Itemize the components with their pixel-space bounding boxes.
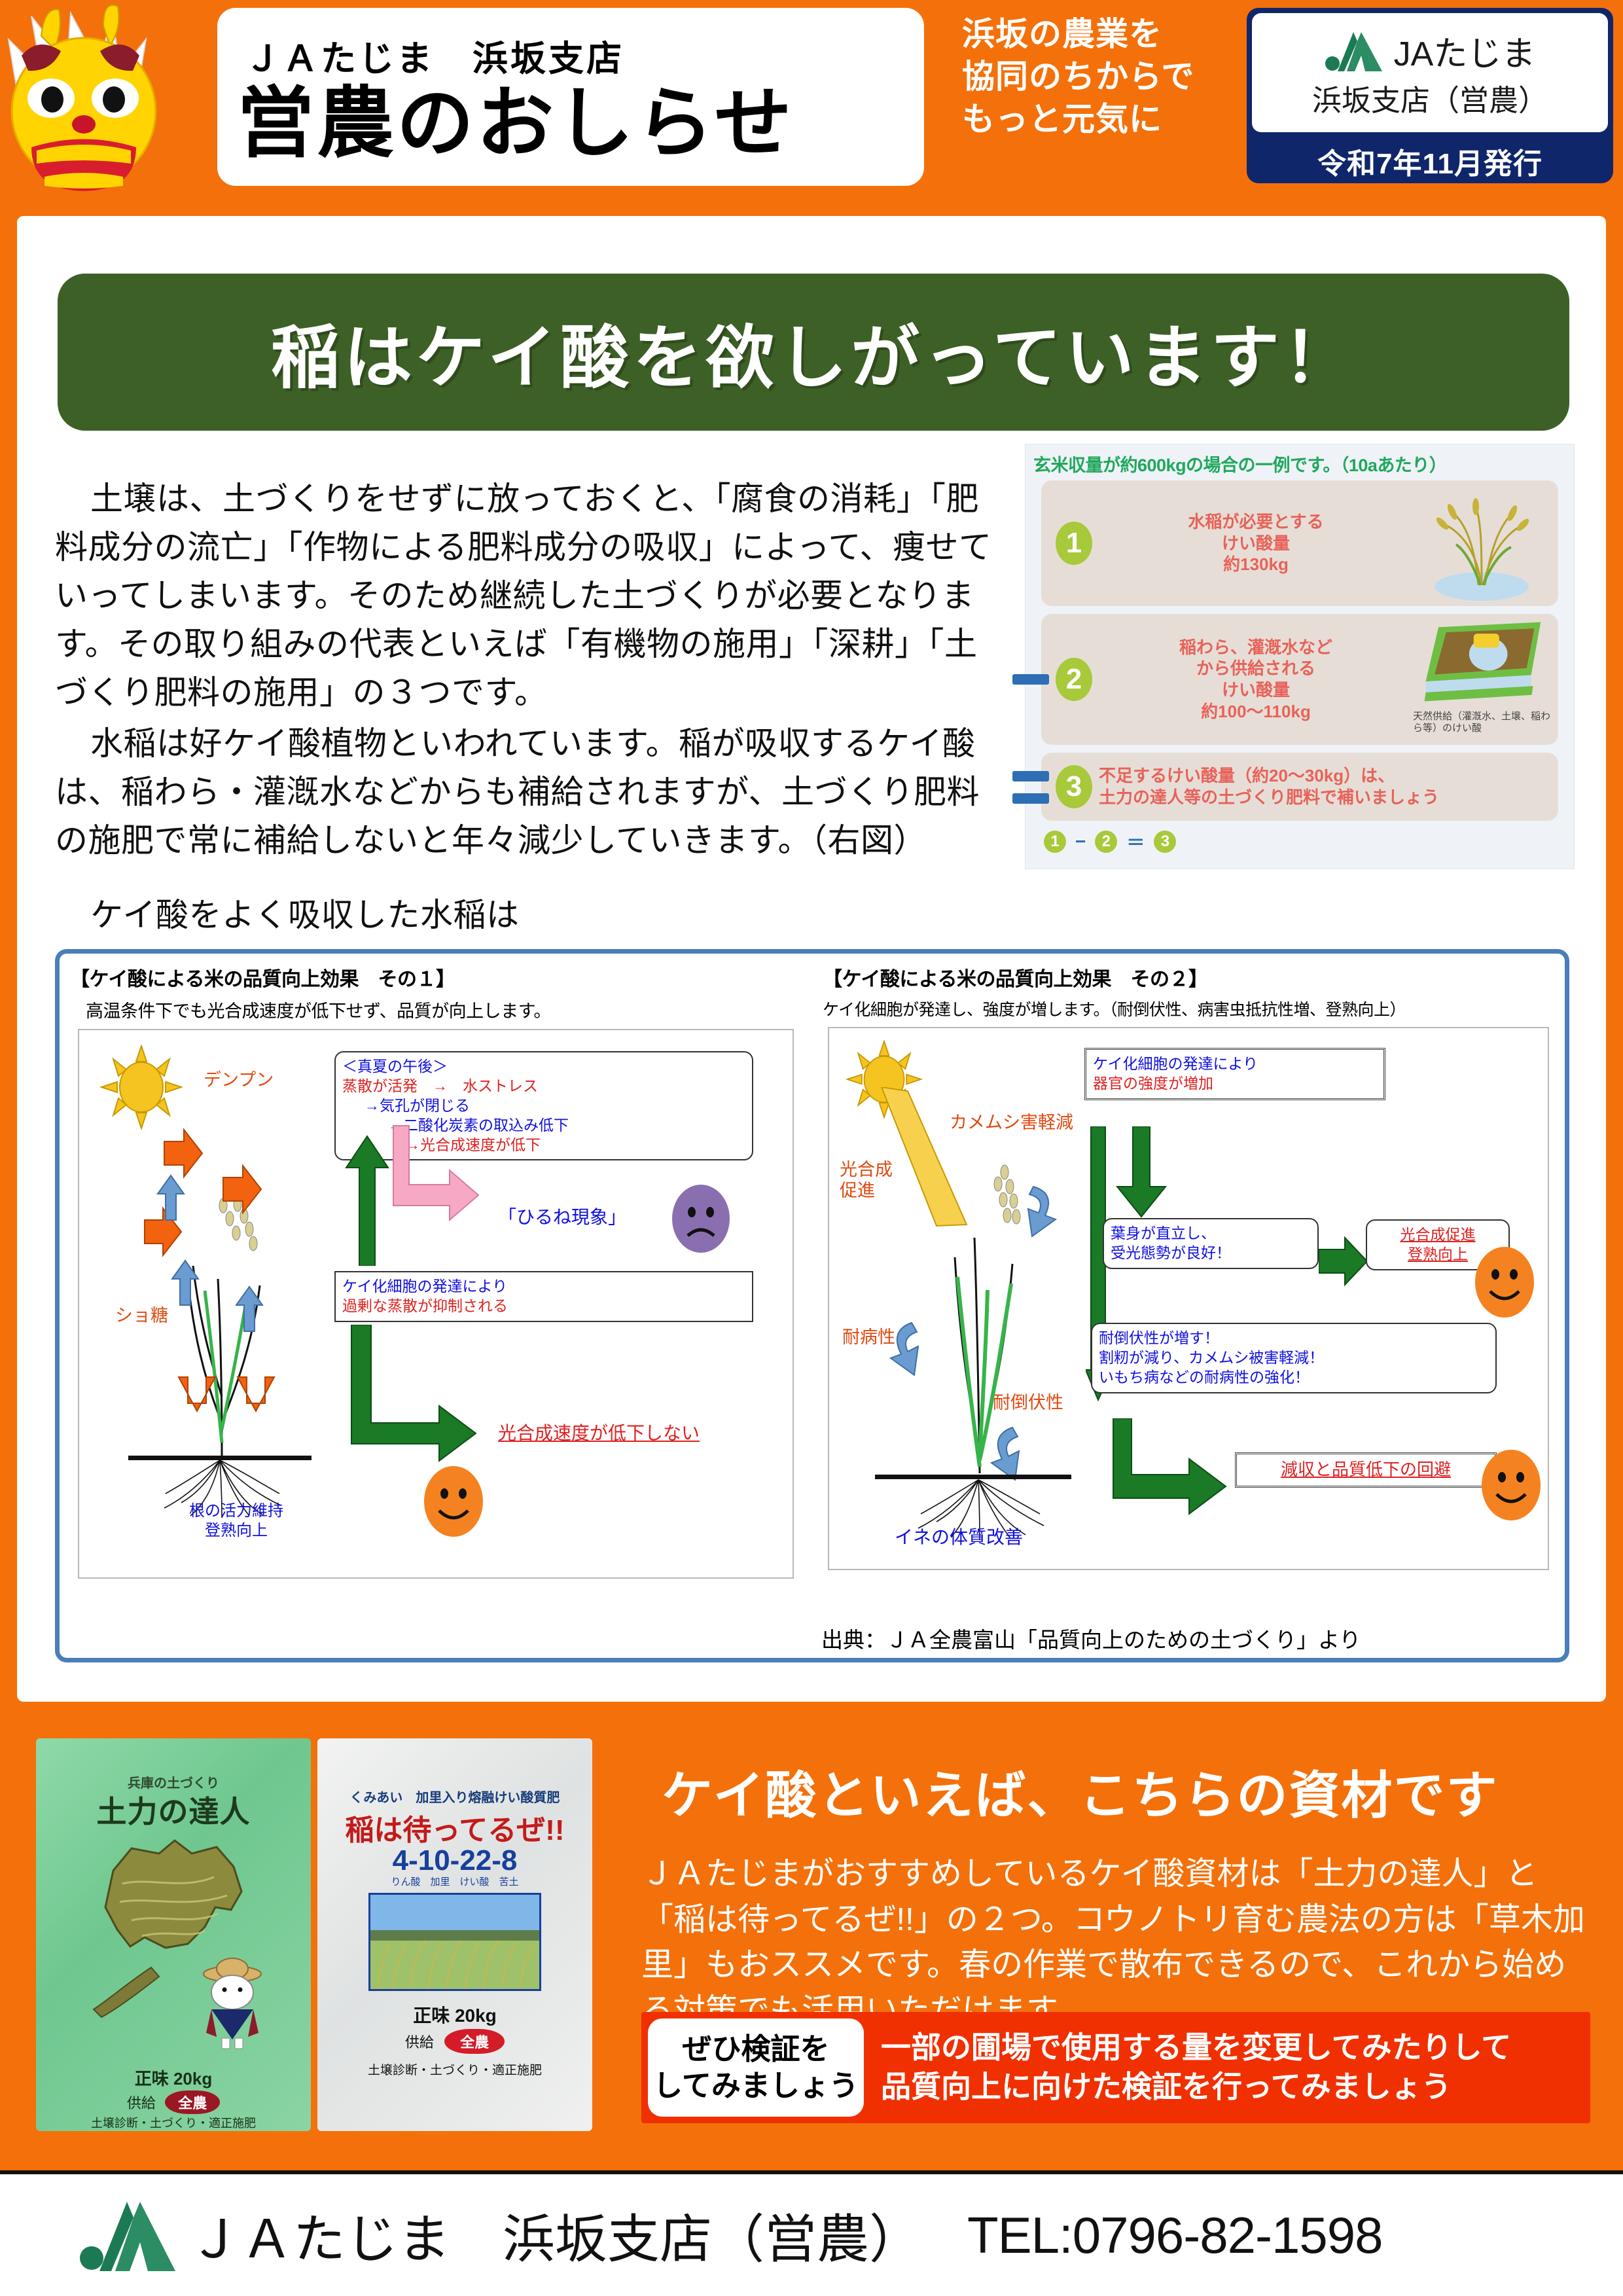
article-paragraph-1: 土壌は、土づくりをせずに放っておくと、「腐食の消耗」「肥料成分の流亡」「作物によ… [55, 475, 997, 717]
green-right-arrow-icon [1319, 1236, 1368, 1286]
green-down-arrow-icon [1109, 1126, 1188, 1218]
title-card: ＪＡたじま 浜坂支店 営農のおしらせ [217, 8, 924, 186]
card1-line3: 約130kg [1099, 554, 1413, 575]
newsletter-page: ＪＡたじま 浜坂支店 営農のおしらせ 浜坂の農業を 協同のちからで もっと元気に [0, 0, 1623, 2296]
slogan-line-3: もっと元気に [962, 98, 1224, 141]
infographic-equation: 1 − 2 ＝ 3 [1026, 829, 1574, 855]
equals-sign-icon [1041, 753, 1058, 821]
zen-noh-brand-badge: 全農 [165, 2090, 220, 2114]
list-intro: ケイ酸をよく吸収した水稲は [55, 891, 997, 939]
card1-line2: けい酸量 [1099, 533, 1413, 554]
infographic-heading: 玄米収量が約600kgの場合の一例です。（10aあたり） [1026, 444, 1574, 480]
callout-line-2: 品質向上に向けた検証を行ってみましょう [881, 2068, 1511, 2107]
source-citation: 出典：ＪＡ全農富山「品質向上のための土づくり」より [821, 1623, 1361, 1654]
infographic-card-2: 2 稲わら、灌漑水など から供給される けい酸量 約100〜110kg [1041, 614, 1558, 745]
card2-line3: けい酸量 [1099, 679, 1413, 701]
equation-term-3: 3 [1154, 831, 1176, 853]
equation-minus: − [1075, 831, 1086, 852]
minus-sign-icon [1041, 614, 1058, 745]
shishimai-dragon-mascot-icon [5, 0, 208, 196]
footer-org: ＪＡたじま 浜坂支店（営農） [188, 2197, 921, 2273]
callout-chip-line1: ぜひ検証を [682, 2031, 829, 2068]
callout-text: 一部の圃場で使用する量を変更してみたりして 品質向上に向けた検証を行ってみましょ… [864, 2028, 1511, 2107]
note-line-3: →気孔が閉じる [342, 1096, 745, 1116]
callout-chip: ぜひ検証を してみましょう [648, 2018, 864, 2117]
note-mid-line1: ケイ化細胞の発達により [342, 1277, 745, 1297]
slogan-line-2: 協同のちからで [962, 56, 1224, 98]
sad-face-icon [668, 1182, 734, 1255]
r-result-l1: 光合成促進 [1374, 1225, 1502, 1245]
zen-noh-brand-badge: 全農 [444, 2029, 505, 2054]
paddy-field-cross-section-icon: 天然供給（灌漑水、土壌、稲わら等）のけい酸 [1413, 620, 1550, 738]
bag-left-weight: 正味 20kg [36, 2066, 311, 2090]
page-header: ＪＡたじま 浜坂支店 営農のおしらせ 浜坂の農業を 協同のちからで もっと元気に [0, 0, 1623, 196]
diagram-2-title: 【ケイ酸による米の品質向上効果 その２】 [823, 963, 1554, 992]
smiley-face-icon [1471, 1244, 1539, 1320]
label-rice-constitution: イネの体質改善 [895, 1526, 1023, 1549]
product-images: 兵庫の土づくり 土力の達人 [36, 1738, 592, 2131]
silicic-acid-infographic: 玄米収量が約600kgの場合の一例です。（10aあたり） 1 水稲が必要とする … [1025, 444, 1575, 869]
issue-date: 令和7年11月発行 [1252, 132, 1608, 182]
diagram-1-canvas: デンプン ショ糖 [78, 1029, 794, 1579]
lodging-resistance-note: 耐倒伏性が増す！ 割籾が減り、カメムシ被害軽減！ いもち病などの耐病性の強化！ [1091, 1323, 1497, 1393]
equation-term-1: 1 [1044, 831, 1066, 853]
ja-logo-branch: 浜坂支店（営農） [1312, 77, 1548, 119]
infographic-card-number: 3 [1056, 765, 1092, 808]
yield-quality-note: 減収と品質低下の回避 [1235, 1452, 1497, 1488]
smiley-face-icon [419, 1463, 488, 1539]
promo-section: 兵庫の土づくり 土力の達人 [0, 1711, 1623, 2162]
r-bottom: 減収と品質低下の回避 [1243, 1459, 1488, 1481]
headline-text: 稲はケイ酸を欲しがっています！ [271, 302, 1356, 402]
verification-callout: ぜひ検証を してみましょう 一部の圃場で使用する量を変更してみたりして 品質向上… [641, 2012, 1590, 2123]
label-starch: デンプン [204, 1069, 274, 1092]
green-curved-arrow-icon [1104, 1418, 1235, 1516]
card1-line1: 水稲が必要とする [1099, 511, 1413, 533]
diagram-2-canvas: 光合成 促進 カメムシ害軽減 耐病性 耐倒伏性 [828, 1027, 1549, 1570]
product-bag-ine-wa-matteruze: くみあい 加里入り熔融けい酸質肥 稲は待ってるぜ!! 4-10-22-8 りん酸… [317, 1738, 592, 2131]
card2-line2: から供給される [1099, 658, 1413, 679]
footer-orange-bar [0, 2165, 1623, 2170]
infographic-card-1: 1 水稲が必要とする けい酸量 約130kg [1041, 480, 1558, 606]
r-leaf-l2: 受光態勢が良好！ [1111, 1244, 1311, 1263]
bag-right-supply: 供給 全農 [317, 2029, 592, 2054]
infographic-card-text: 稲わら、灌漑水など から供給される けい酸量 約100〜110kg [1099, 637, 1413, 723]
headline-banner: 稲はケイ酸を欲しがっています！ [58, 274, 1569, 431]
bag-left-footer: 土壌診断・土づくり・適正施肥 [36, 2114, 311, 2131]
branch-label: ＪＡたじま 浜坂支店 [245, 29, 924, 81]
smiley-face-icon [1477, 1447, 1545, 1523]
root-label-line1: 根の活力維持 [164, 1501, 308, 1521]
label-root-vitality: 根の活力維持 登熟向上 [164, 1501, 308, 1541]
ja-logo-icon [1325, 31, 1385, 71]
bag-right-supply-label: 供給 [405, 2034, 434, 2051]
ja-logo-text: JAたじま [1394, 26, 1536, 75]
footer-tel: TEL:0796-82-1598 [967, 2206, 1382, 2265]
card2-line1: 稲わら、灌漑水など [1099, 637, 1413, 658]
pink-curved-arrow-icon [387, 1122, 485, 1240]
r-mid-l2: 割籾が減り、カメムシ被害軽減！ [1099, 1348, 1489, 1368]
infographic-card-3: 3 不足するけい酸量（約20〜30kg）は、 土力の達人等の土づくり肥料で補いま… [1041, 753, 1558, 821]
main-content-panel: 稲はケイ酸を欲しがっています！ 土壌は、土づくりをせずに放っておくと、「腐食の消… [17, 216, 1606, 1702]
quality-effect-diagrams: 【ケイ酸による米の品質向上効果 その１】 高温条件下でも光合成速度が低下せず、品… [55, 949, 1569, 1662]
infographic-card-number: 2 [1056, 658, 1092, 701]
r-note-top-l2: 器官の強度が増加 [1093, 1074, 1377, 1094]
note-line-1: ＜真夏の午後＞ [342, 1057, 745, 1077]
bag-right-top-small: くみあい 加里入り熔融けい酸質肥 [317, 1787, 592, 1806]
card3-line2: 土力の達人等の土づくり肥料で補いましょう [1099, 787, 1550, 808]
bag-right-npk: 4-10-22-8 [317, 1844, 592, 1877]
farmer-mascot-icon [193, 1954, 272, 2053]
diagram-1-subtitle: 高温条件下でも光合成速度が低下せず、品質が向上します。 [86, 997, 802, 1022]
product-bag-dojikaru-no-tatsujin: 兵庫の土づくり 土力の達人 [36, 1738, 311, 2131]
ja-logo-box: JAたじま 浜坂支店（営農） 令和7年11月発行 [1247, 8, 1613, 183]
promo-heading-bar: ケイ酸といえば、こちらの資材です [638, 1749, 1590, 1834]
promo-heading: ケイ酸といえば、こちらの資材です [662, 1755, 1498, 1828]
ja-logo-icon [79, 2199, 177, 2271]
infographic-card-number: 1 [1056, 522, 1092, 565]
infographic-card-text: 不足するけい酸量（約20〜30kg）は、 土力の達人等の土づくり肥料で補いましょ… [1099, 765, 1550, 808]
r-note-top-l1: ケイ化細胞の発達により [1093, 1054, 1377, 1074]
equation-equals: ＝ [1126, 829, 1145, 855]
note-mid-line2: 過剰な蒸散が抑制される [342, 1297, 745, 1316]
upright-rice-plant-icon [868, 1126, 1084, 1545]
hyogo-prefecture-map-icon [77, 1831, 273, 1962]
r-leaf-l1: 葉身が直立し、 [1111, 1224, 1311, 1244]
rice-plant-with-roots-icon [125, 1115, 315, 1521]
leaf-upright-note: 葉身が直立し、 受光態勢が良好！ [1103, 1218, 1319, 1269]
bag-right-footer: 土壌診断・土づくり・適正施肥 [317, 2060, 592, 2078]
diagram-2-subtitle: ケイ化細胞が発達し、強度が増します。（耐倒伏性、病害虫抵抗性増、登熟向上） [823, 997, 1554, 1020]
r-mid-l1: 耐倒伏性が増す！ [1099, 1329, 1489, 1348]
equation-term-2: 2 [1095, 831, 1117, 853]
card2-line4: 約100〜110kg [1099, 701, 1413, 723]
article-paragraph-2: 水稲は好ケイ酸植物といわれています。稲が吸収するケイ酸は、稲わら・灌漑水などから… [55, 719, 997, 865]
rice-plant-in-water-icon [1413, 487, 1550, 600]
bag-left-name: 土力の達人 [36, 1788, 311, 1831]
bag-right-npk-labels: りん酸 加里 けい酸 苦土 [317, 1874, 592, 1888]
cell-strength-note: ケイ化細胞の発達により 器官の強度が増加 [1084, 1048, 1385, 1100]
diagram-panel-2: 【ケイ酸による米の品質向上効果 その２】 ケイ化細胞が発達し、強度が増します。（… [812, 954, 1565, 1658]
callout-line-1: 一部の圃場で使用する量を変更してみたりして [881, 2028, 1511, 2068]
r-mid-l3: いもち病などの耐病性の強化！ [1099, 1368, 1489, 1388]
diagram-panel-1: 【ケイ酸による米の品質向上効果 その１】 高温条件下でも光合成速度が低下せず、品… [60, 954, 812, 1658]
slogan: 浜坂の農業を 協同のちからで もっと元気に [962, 13, 1224, 141]
promo-body: ＪＡたじまがおすすめしているケイ酸資材は「土力の達人」と「稲は待ってるぜ!!」の… [641, 1852, 1590, 2034]
page-title: 営農のおしらせ [237, 84, 924, 165]
bag-right-name: 稲は待ってるぜ!! [317, 1806, 592, 1848]
bag-left-supply: 供給 全農 [36, 2090, 311, 2114]
outcome-photosynthesis: 光合成速度が低下しない [498, 1422, 700, 1444]
note-line-2: 蒸散が活発 → 水ストレス [342, 1077, 745, 1096]
label-nap-phenomenon: 「ひるね現象」 [498, 1206, 626, 1229]
burdock-root-icon [88, 1961, 167, 2020]
bag-right-weight: 正味 20kg [317, 2001, 592, 2028]
green-curved-arrow-icon [341, 1325, 498, 1469]
callout-chip-line2: してみましょう [653, 2068, 859, 2104]
rice-field-photo [368, 1893, 541, 1991]
bag-left-supply-label: 供給 [127, 2095, 156, 2111]
infographic-card-caption: 天然供給（灌漑水、土壌、稲わら等）のけい酸 [1413, 711, 1550, 734]
diagram-1-title: 【ケイ酸による米の品質向上効果 その１】 [70, 963, 802, 992]
slogan-line-1: 浜坂の農業を [962, 13, 1224, 56]
silicified-cell-note: ケイ化細胞の発達により 過剰な蒸散が抑制される [334, 1271, 753, 1322]
card3-line1: 不足するけい酸量（約20〜30kg）は、 [1099, 765, 1550, 787]
green-up-arrow-icon [341, 1135, 393, 1266]
page-footer: ＪＡたじま 浜坂支店（営農） TEL:0796-82-1598 [0, 2170, 1623, 2296]
infographic-card-text: 水稲が必要とする けい酸量 約130kg [1099, 511, 1413, 575]
root-label-line2: 登熟向上 [164, 1521, 308, 1541]
